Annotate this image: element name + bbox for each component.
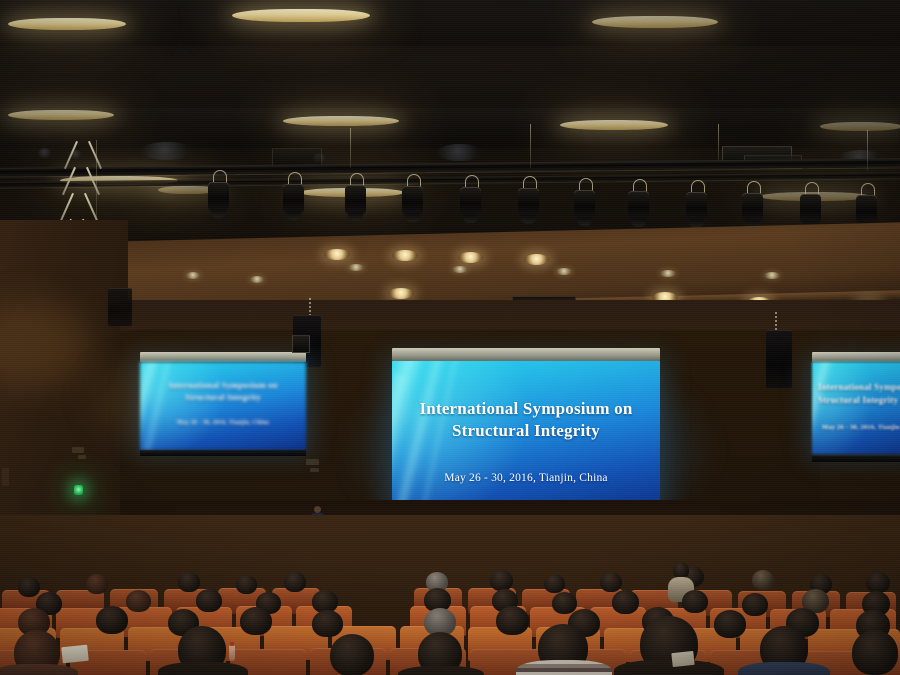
audience-head [612, 590, 639, 614]
audience-head [552, 592, 577, 614]
wall-plate [72, 447, 84, 453]
audience-shoulders [398, 666, 484, 675]
right-projection-screen: International Symposium on Structural In… [812, 362, 900, 454]
audience-head [312, 610, 343, 637]
recessed-downlight [324, 249, 350, 260]
audience-head [96, 606, 128, 634]
center-screen-unit: International Symposium on Structural In… [392, 348, 660, 520]
truss-wire [718, 124, 719, 160]
wall-plate [306, 459, 319, 465]
wall-plate [310, 468, 319, 472]
recessed-downlight [452, 266, 468, 273]
ceiling-speaker [108, 288, 132, 326]
audience-head [752, 570, 774, 590]
recessed-downlight [524, 254, 549, 265]
ceiling-strip-light [8, 18, 126, 30]
screen-bottom-edge [812, 456, 900, 462]
truss-wire [350, 128, 351, 168]
truss-wire [867, 130, 868, 170]
ceiling-strip-light [8, 110, 114, 120]
water-bottle [229, 645, 235, 661]
audience-shoulders [738, 662, 830, 675]
center-screen-subtitle: May 26 - 30, 2016, Tianjin, China [392, 471, 660, 485]
rigging-box [272, 148, 322, 166]
wall-conduit [2, 468, 9, 486]
recessed-downlight [392, 250, 418, 261]
audience-head [742, 593, 768, 616]
recessed-downlight [348, 264, 364, 271]
left-screen-unit: International Symposium on Structural In… [140, 352, 306, 456]
audience-head [330, 634, 374, 675]
screen-housing [392, 348, 660, 361]
audience-head [236, 575, 257, 594]
right-screen-subtitle: May 26 - 30, 2016, Tianjin [822, 424, 900, 432]
audience-head [682, 590, 708, 613]
recessed-downlight [764, 272, 780, 279]
audience-shoulders-striped [516, 660, 612, 675]
audience-shoulders [0, 664, 78, 675]
recessed-downlight [660, 270, 676, 277]
audience-head [178, 572, 200, 592]
recessed-downlight [250, 276, 264, 283]
wall-plate [78, 455, 86, 459]
audience-head [196, 589, 222, 612]
left-screen-title-line2: Structural Integrity [140, 392, 306, 403]
ceiling-light-spot [38, 148, 52, 158]
audience-shoulders [158, 662, 248, 675]
center-projection-screen: International Symposium on Structural In… [392, 361, 660, 511]
audience-head [86, 574, 108, 594]
recessed-downlight [556, 268, 572, 275]
emergency-exit-light [74, 485, 83, 495]
audience-head [852, 630, 898, 675]
ceiling-strip-light [232, 9, 370, 22]
left-screen-subtitle: May 26 - 30, 2016, Tianjin, China [140, 420, 306, 427]
audience-head [544, 574, 565, 593]
truss-wire [530, 124, 531, 168]
center-screen-title-line2: Structural Integrity [392, 420, 660, 441]
screen-housing [812, 352, 900, 362]
right-screen-title-line2: Structural Integrity [818, 395, 900, 406]
audience-head [496, 606, 529, 635]
recessed-downlight [388, 288, 414, 299]
right-screen-title-line1: International Symposium on [818, 382, 900, 393]
audience-head [490, 570, 513, 591]
auditorium-photo: International Symposium on Structural In… [0, 0, 900, 675]
recessed-downlight [186, 272, 200, 279]
left-screen-title-line1: International Symposium on [140, 380, 306, 391]
right-screen-unit: International Symposium on Structural In… [812, 352, 900, 462]
program-paper [61, 645, 89, 664]
ceiling-vent-disc [140, 142, 194, 160]
left-screen-bracket [292, 335, 310, 353]
audience-head [600, 572, 622, 592]
audience-head [18, 577, 40, 597]
ceiling-strip-light [283, 116, 399, 126]
ceiling-strip-light [592, 16, 718, 28]
ceiling-vent-disc [436, 144, 484, 161]
recessed-downlight [458, 252, 483, 263]
ceiling-strip-light [820, 122, 900, 131]
ceiling-speaker [766, 330, 792, 388]
center-screen-title-line1: International Symposium on [392, 398, 660, 419]
screen-bottom-edge [140, 450, 306, 456]
audience-head [240, 607, 272, 635]
screen-housing [140, 352, 306, 362]
left-projection-screen: International Symposium on Structural In… [140, 362, 306, 450]
audience-head [714, 610, 746, 638]
audience-head [866, 572, 890, 593]
audience-shoulders [614, 660, 724, 675]
ceiling-strip-light [560, 120, 668, 130]
audience-head [284, 572, 306, 592]
audience-head [126, 590, 151, 612]
program-paper [671, 651, 694, 667]
